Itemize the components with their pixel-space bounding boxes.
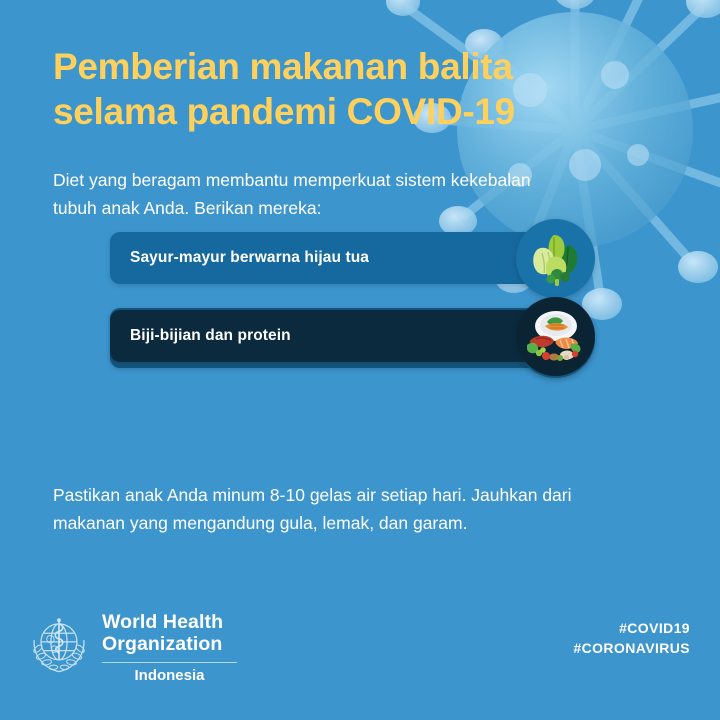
footer: World Health Organization Indonesia #COV… (0, 600, 720, 720)
title-line-1: Pemberian makanan balita (53, 44, 613, 89)
who-name-line-2: Organization (102, 634, 237, 656)
food-group-label-1: Sayur-mayur berwarna hijau tua (110, 247, 449, 269)
who-name: World Health Organization (102, 612, 237, 656)
hashtag-block: #COVID19 #CORONAVIRUS (573, 618, 690, 659)
food-group-label-3: Biji-bijian dan protein (110, 325, 371, 347)
intro-line-2: tubuh anak Anda. Berikan mereka: (53, 194, 613, 222)
food-group-label-3-line-1: Biji-bijian dan protein (130, 325, 291, 347)
who-emblem-icon (28, 614, 90, 676)
who-country-label: Indonesia (102, 667, 237, 684)
who-divider (102, 662, 237, 664)
infographic-canvas: Pemberian makanan balita selama pandemi … (0, 0, 720, 720)
who-logo: World Health Organization Indonesia (28, 612, 237, 684)
who-wordmark: World Health Organization Indonesia (102, 612, 237, 684)
title-line-2: selama pandemi COVID-19 (53, 89, 613, 134)
intro-paragraph: Diet yang beragam membantu memperkuat si… (53, 166, 613, 223)
food-group-list: Sayur-mayur berwarna hijau tua (0, 232, 720, 310)
hashtag-covid19: #COVID19 (573, 618, 690, 638)
outro-paragraph: Pastikan anak Anda minum 8-10 gelas air … (53, 481, 653, 538)
food-group-bar-3: Biji-bijian dan protein (110, 310, 540, 362)
food-group-label-1-line-1: Sayur-mayur berwarna hijau tua (130, 247, 369, 269)
leafy-greens-icon (516, 219, 595, 298)
who-name-line-1: World Health (102, 612, 237, 634)
intro-line-1: Diet yang beragam membantu memperkuat si… (53, 166, 613, 194)
page-title: Pemberian makanan balita selama pandemi … (53, 44, 613, 134)
grains-protein-plate-icon (516, 297, 595, 376)
outro-line-2: makanan yang mengandung gula, lemak, dan… (53, 509, 653, 537)
hashtag-coronavirus: #CORONAVIRUS (573, 638, 690, 658)
food-group-bar-1: Sayur-mayur berwarna hijau tua (110, 232, 540, 284)
outro-line-1: Pastikan anak Anda minum 8-10 gelas air … (53, 481, 653, 509)
